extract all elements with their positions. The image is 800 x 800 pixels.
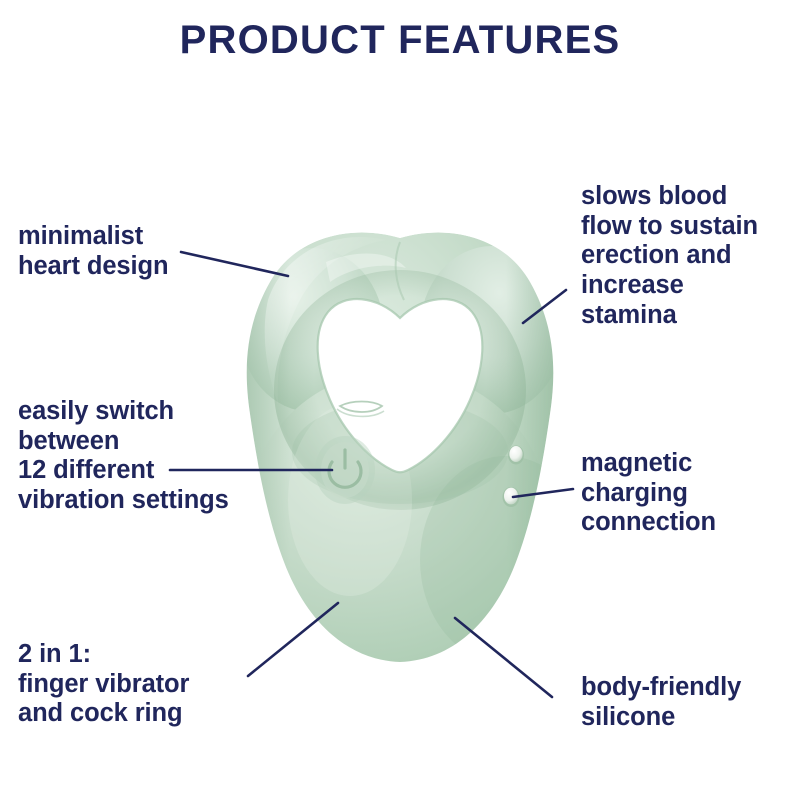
callout-magnetic-charging: magnetic charging connection [581, 449, 796, 538]
callout-easily-switch: easily switch between 12 different vibra… [18, 397, 278, 516]
callout-minimalist-heart-design: minimalist heart design [18, 222, 268, 281]
product-body [240, 230, 592, 670]
page-title: PRODUCT FEATURES [0, 18, 800, 63]
product-features-diagram: PRODUCT FEATURES [0, 0, 800, 800]
callout-two-in-one: 2 in 1: finger vibrator and cock ring [18, 640, 288, 729]
callout-slows-blood-flow: slows blood flow to sustain erection and… [581, 182, 796, 331]
charging-pin-top [508, 446, 524, 465]
callout-body-friendly-silicone: body-friendly silicone [581, 673, 796, 732]
